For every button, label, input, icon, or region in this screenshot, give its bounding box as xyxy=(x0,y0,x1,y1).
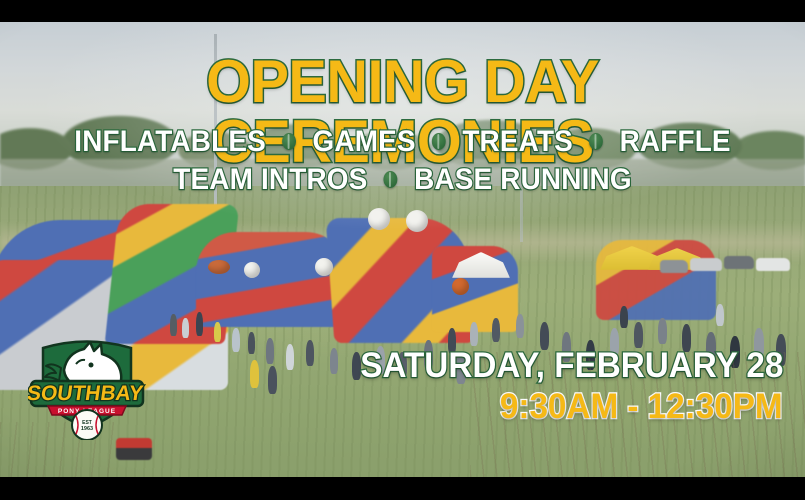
activity-team-intros: TEAM INTROS xyxy=(173,163,367,196)
logo-wordmark: SOUTHBAY xyxy=(28,382,144,405)
green-ball-bullet-icon xyxy=(282,133,296,150)
baseball-year-text: 1963 xyxy=(81,426,93,432)
event-date: SATURDAY, FEBRUARY 28 xyxy=(360,347,783,385)
activity-games: GAMES xyxy=(312,125,415,158)
green-ball-bullet-icon xyxy=(384,171,398,188)
letterbox-top xyxy=(0,0,805,22)
activity-base-running: BASE RUNNING xyxy=(414,163,632,196)
event-poster: OPENING DAY CEREMONIES INFLATABLES GAMES… xyxy=(0,0,805,500)
green-ball-bullet-icon xyxy=(589,133,603,150)
letterbox-bottom xyxy=(0,477,805,500)
activities-line-1: INFLATABLES GAMES TREATS RAFFLE xyxy=(28,126,777,158)
activity-raffle: RAFFLE xyxy=(620,125,731,158)
activity-treats: TREATS xyxy=(462,125,573,158)
activity-inflatables: INFLATABLES xyxy=(74,125,266,158)
logo-svg: SOUTHBAY PONY LEAGUE EST 1963 xyxy=(28,322,146,440)
baseball-est-text: EST xyxy=(82,420,92,426)
green-ball-bullet-icon xyxy=(432,133,446,150)
southbay-pony-league-logo: SOUTHBAY PONY LEAGUE EST 1963 xyxy=(28,322,146,440)
event-time: 9:30AM - 12:30PM xyxy=(500,388,783,426)
activities-line-2: TEAM INTROS BASE RUNNING xyxy=(28,164,777,196)
